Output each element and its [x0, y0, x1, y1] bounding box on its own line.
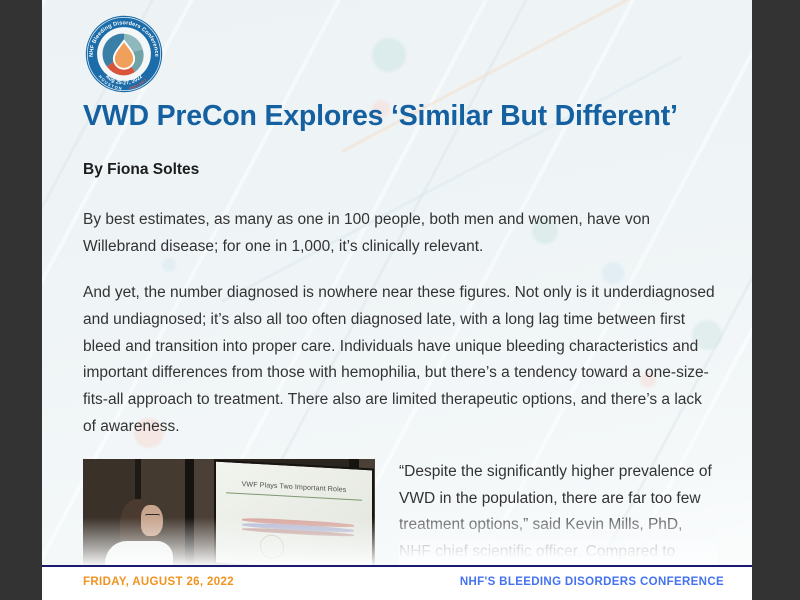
right-gutter [752, 0, 800, 600]
pull-quote-text: “Despite the significantly higher preval… [399, 459, 717, 565]
article-body: By best estimates, as many as one in 100… [83, 207, 715, 440]
article-headline: VWD PreCon Explores ‘Similar But Differe… [83, 100, 715, 133]
conference-logo: NHF Bleeding Disorders Conference Aug 25… [85, 15, 163, 93]
article-photo: VWF Plays Two Important Roles [83, 459, 375, 565]
article-paragraph-1: By best estimates, as many as one in 100… [83, 207, 715, 260]
article-byline: By Fiona Soltes [83, 161, 715, 179]
pull-quote: “Despite the significantly higher preval… [399, 459, 717, 565]
screenshot-viewport: NHF Bleeding Disorders Conference Aug 25… [0, 0, 800, 600]
footer-brand: NHF'S BLEEDING DISORDERS CONFERENCE [460, 576, 724, 588]
page-footer: FRIDAY, AUGUST 26, 2022 NHF'S BLEEDING D… [42, 567, 752, 600]
footer-date: FRIDAY, AUGUST 26, 2022 [83, 576, 234, 588]
background-blob-teal-1 [372, 38, 406, 72]
left-gutter [0, 0, 42, 600]
newsletter-page: NHF Bleeding Disorders Conference Aug 25… [42, 0, 752, 600]
article-paragraph-2: And yet, the number diagnosed is nowhere… [83, 280, 715, 440]
media-row: VWF Plays Two Important Roles “Despite t… [83, 459, 717, 565]
photo-bottom-fade [83, 459, 375, 565]
